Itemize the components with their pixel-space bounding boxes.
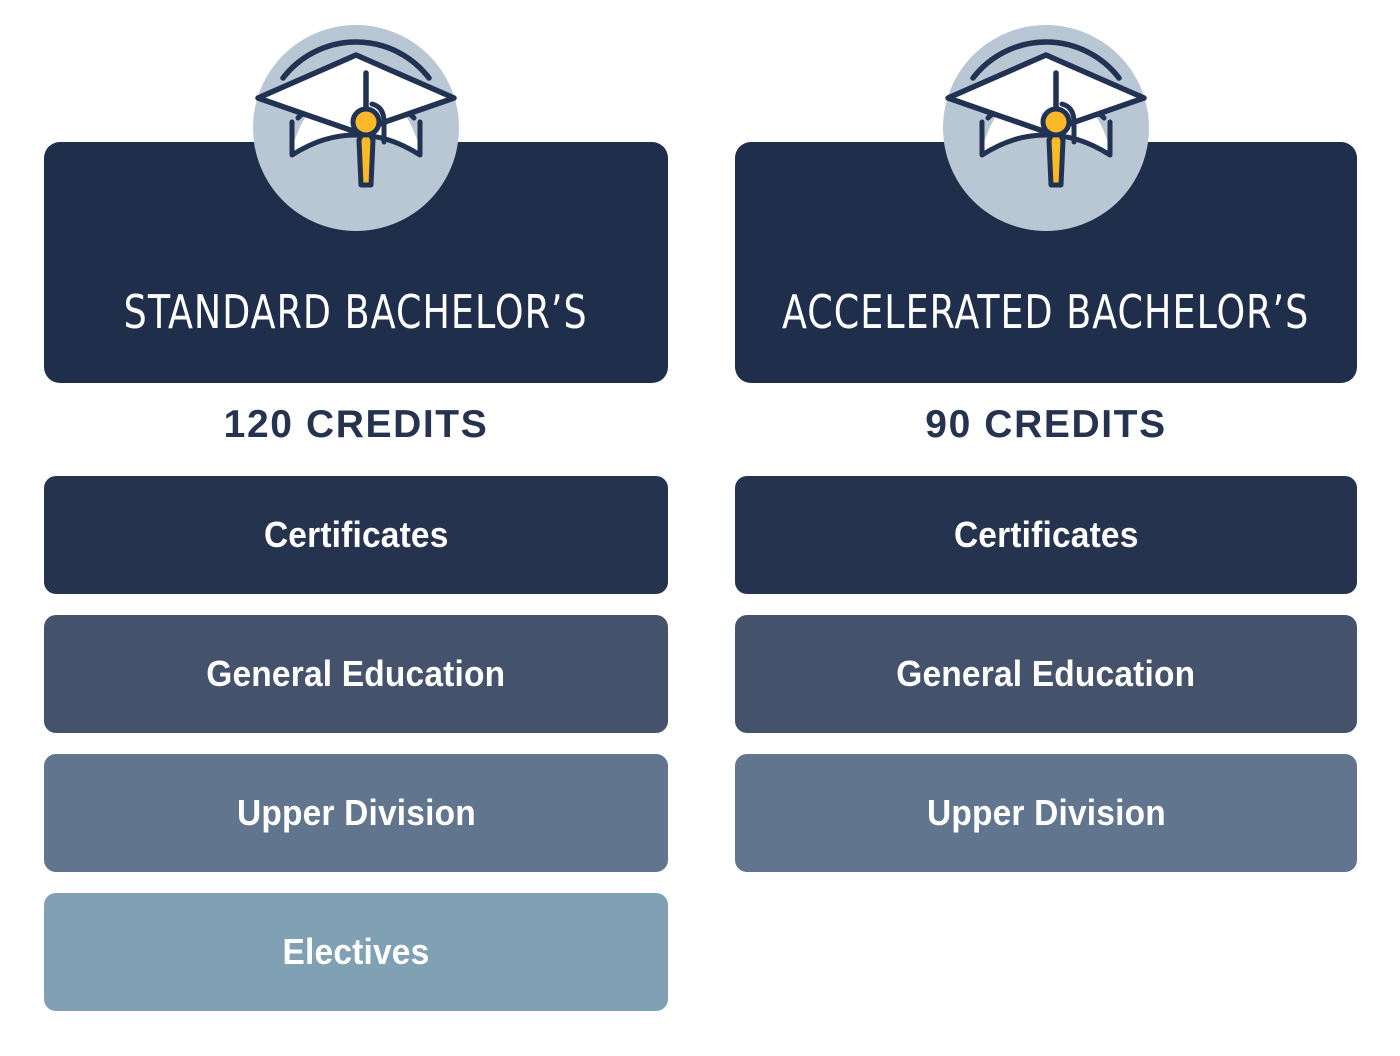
page-title: ACCELERATED BACHELOR’S — [782, 289, 1309, 383]
credit-bar-label: Certificates — [264, 514, 449, 556]
page-title: STANDARD BACHELOR’S — [124, 289, 588, 383]
credit-breakdown-bars: Certificates General Education Upper Div… — [44, 476, 668, 1032]
credit-bar-label: Upper Division — [237, 792, 476, 834]
credit-bar-certificates: Certificates — [735, 476, 1357, 594]
program-header-card: STANDARD BACHELOR’S — [44, 142, 668, 383]
credit-bar-general-education: General Education — [735, 615, 1357, 733]
credit-bar-certificates: Certificates — [44, 476, 668, 594]
program-header-card: ACCELERATED BACHELOR’S — [735, 142, 1357, 383]
credit-bar-electives: Electives — [44, 893, 668, 1011]
credit-bar-label: General Education — [207, 653, 506, 695]
credit-bar-label: Electives — [283, 931, 430, 973]
credits-total-label: 90 CREDITS — [735, 404, 1357, 447]
infographic-canvas: STANDARD BACHELOR’S 120 CREDITS Certific… — [0, 0, 1400, 1056]
credits-total-label: 120 CREDITS — [44, 404, 668, 447]
credit-breakdown-bars: Certificates General Education Upper Div… — [735, 476, 1357, 893]
credit-bar-upper-division: Upper Division — [44, 754, 668, 872]
credit-bar-label: General Education — [897, 653, 1196, 695]
credit-bar-upper-division: Upper Division — [735, 754, 1357, 872]
credit-bar-label: Certificates — [954, 514, 1139, 556]
credit-bar-general-education: General Education — [44, 615, 668, 733]
credit-bar-label: Upper Division — [927, 792, 1166, 834]
